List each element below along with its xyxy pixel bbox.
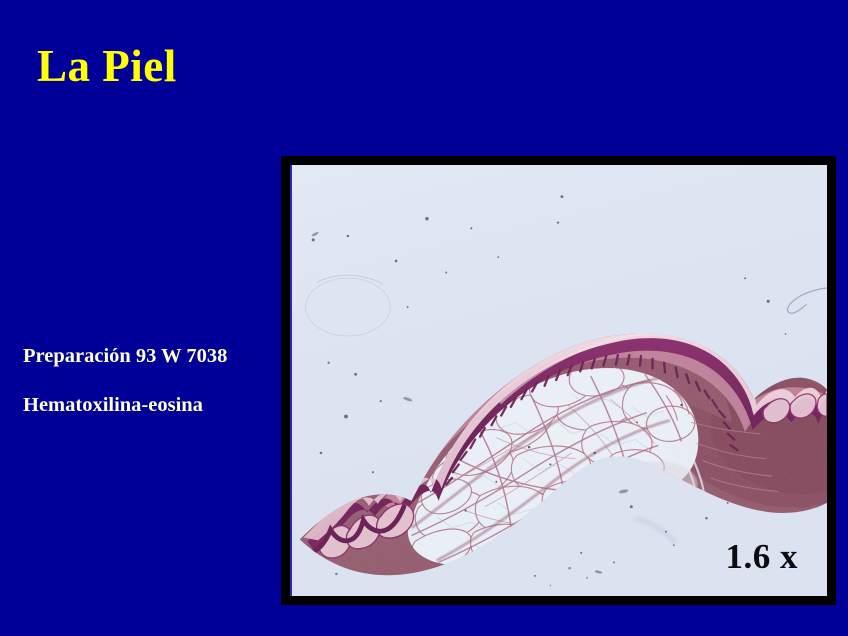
magnification-label: 1.6 x: [726, 539, 799, 574]
histology-section-svg: [292, 165, 827, 596]
page-title: La Piel: [37, 44, 177, 89]
micrograph-image: 1.6 x: [290, 165, 827, 596]
micrograph-frame: 1.6 x: [281, 156, 836, 605]
caption-block: Preparación 93 W 7038 Hematoxilina-eosin…: [23, 346, 273, 416]
caption-stain: Hematoxilina-eosina: [23, 395, 273, 417]
caption-preparation: Preparación 93 W 7038: [23, 346, 273, 368]
slide: La Piel Preparación 93 W 7038 Hematoxili…: [0, 0, 848, 636]
